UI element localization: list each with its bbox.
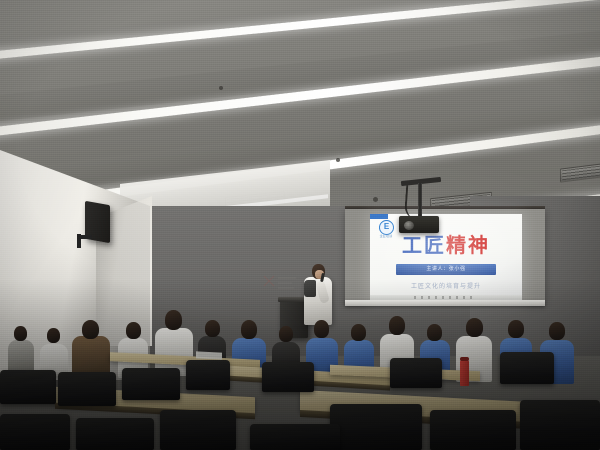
chair xyxy=(122,368,180,400)
attendee-head xyxy=(549,322,565,340)
slide-title-char-3: 精神 xyxy=(446,235,490,257)
thermos-cap xyxy=(460,357,469,361)
presentation-slide: E 企业培训 工匠精神 主讲人：张小强 工匠文化的培育与提升 xyxy=(370,214,522,300)
attendee-head xyxy=(427,324,442,341)
chair xyxy=(58,372,116,406)
slide-title: 工匠精神 xyxy=(370,236,522,256)
attendee-head xyxy=(279,326,293,342)
projector-lens-icon xyxy=(404,221,414,230)
chair xyxy=(0,370,56,404)
paper-sheet xyxy=(196,351,222,359)
attendee-head xyxy=(47,328,60,343)
attendee-head xyxy=(508,320,524,338)
company-logo-icon: E xyxy=(379,220,394,235)
chair-front xyxy=(76,418,154,450)
attendee-head xyxy=(241,320,257,339)
thermos-cup xyxy=(460,360,469,386)
attendee-head xyxy=(205,320,220,337)
slide-top-chip xyxy=(370,214,388,219)
slide-banner-text: 主讲人：张小强 xyxy=(396,265,496,274)
chair xyxy=(500,352,554,384)
wall-markings xyxy=(262,272,302,294)
chair-front xyxy=(0,414,70,450)
chair xyxy=(262,362,314,392)
chair-front xyxy=(330,404,422,450)
attendee-head xyxy=(314,320,329,338)
speaker-bracket xyxy=(77,234,81,248)
attendee-head xyxy=(165,310,182,330)
chair-front xyxy=(160,410,236,450)
slide-title-char-2: 匠 xyxy=(424,235,446,257)
air-vent-louvers xyxy=(562,166,600,181)
ceiling-sensor-icon xyxy=(219,86,223,90)
chair-front xyxy=(430,410,516,450)
attendee-head xyxy=(14,326,27,341)
presenter-bag-strap xyxy=(304,280,316,297)
attendee-head xyxy=(82,320,99,339)
chair xyxy=(186,360,230,390)
attendee-head xyxy=(351,324,366,341)
attendee-head xyxy=(389,316,405,335)
lecture-room-photo: E 企业培训 工匠精神 主讲人：张小强 工匠文化的培育与提升 xyxy=(0,0,600,450)
ceiling-sensor-icon xyxy=(336,158,340,162)
slide-title-char-1: 工 xyxy=(402,235,424,257)
attendee-head xyxy=(126,322,141,339)
slide-taskbar-items xyxy=(414,296,472,299)
chair-front xyxy=(520,400,600,450)
ceiling-sensor-icon xyxy=(373,197,378,202)
chair xyxy=(390,358,442,388)
chair-front xyxy=(250,424,340,450)
slide-subtitle: 工匠文化的培育与提升 xyxy=(370,281,522,290)
attendee-head xyxy=(466,318,483,337)
